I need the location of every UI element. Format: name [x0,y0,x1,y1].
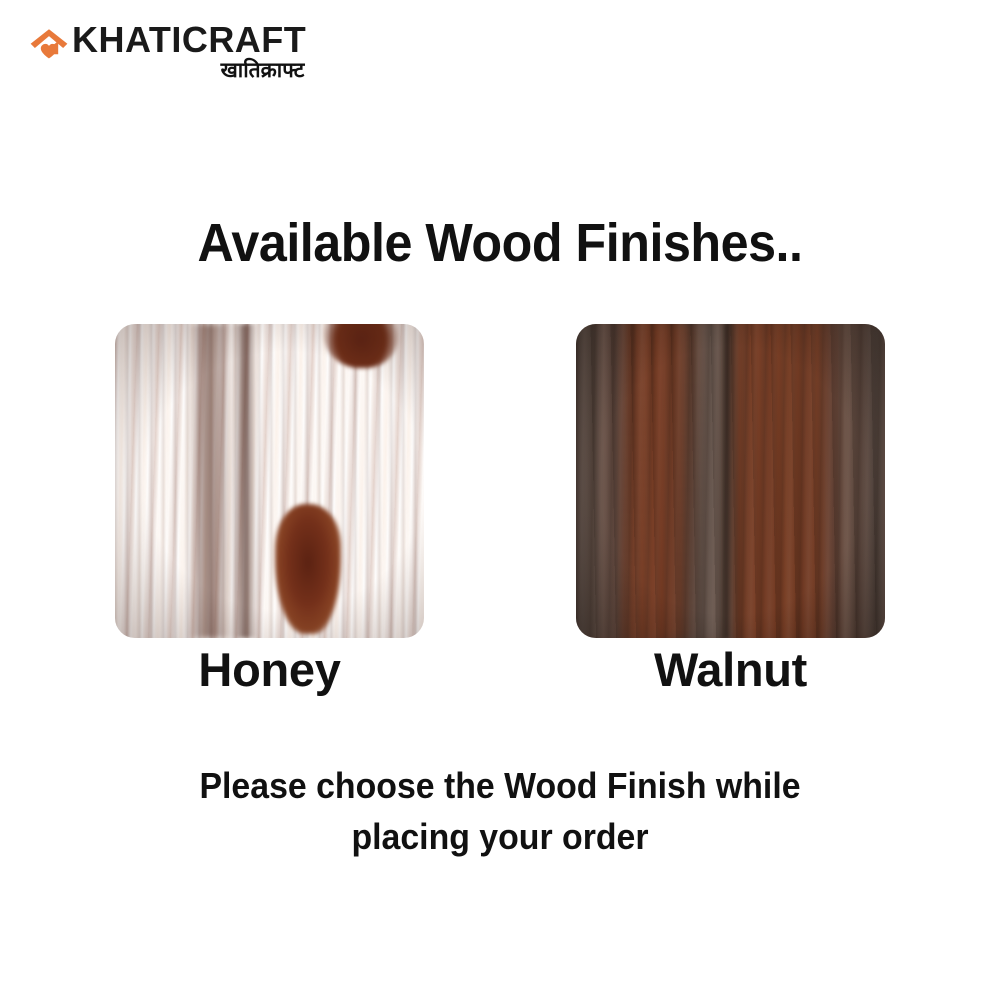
walnut-vignette [576,324,885,638]
house-heart-icon [28,24,70,66]
order-instruction-line-1: Please choose the Wood Finish while [30,760,970,811]
wood-finish-swatch-row: Honey Walnut [0,324,1000,704]
wood-finish-option-walnut[interactable]: Walnut [576,324,885,696]
brand-name: KHATICRAFT [72,22,306,57]
brand-wordmark: KHATICRAFT खातिक्राफ्ट [72,22,306,82]
brand-header: KHATICRAFT खातिक्राफ्ट [28,22,306,82]
honey-swatch-label: Honey [115,644,424,696]
order-instruction-note: Please choose the Wood Finish while plac… [30,760,970,862]
wood-finish-option-honey[interactable]: Honey [115,324,424,696]
honey-wood-swatch-image [115,324,424,638]
page-title: Available Wood Finishes.. [35,212,965,274]
brand-name-hindi: खातिक्राफ्ट [221,58,307,82]
walnut-swatch-label: Walnut [576,644,885,696]
honey-vignette [115,324,424,638]
walnut-wood-swatch-image [576,324,885,638]
order-instruction-line-2: placing your order [30,811,970,862]
